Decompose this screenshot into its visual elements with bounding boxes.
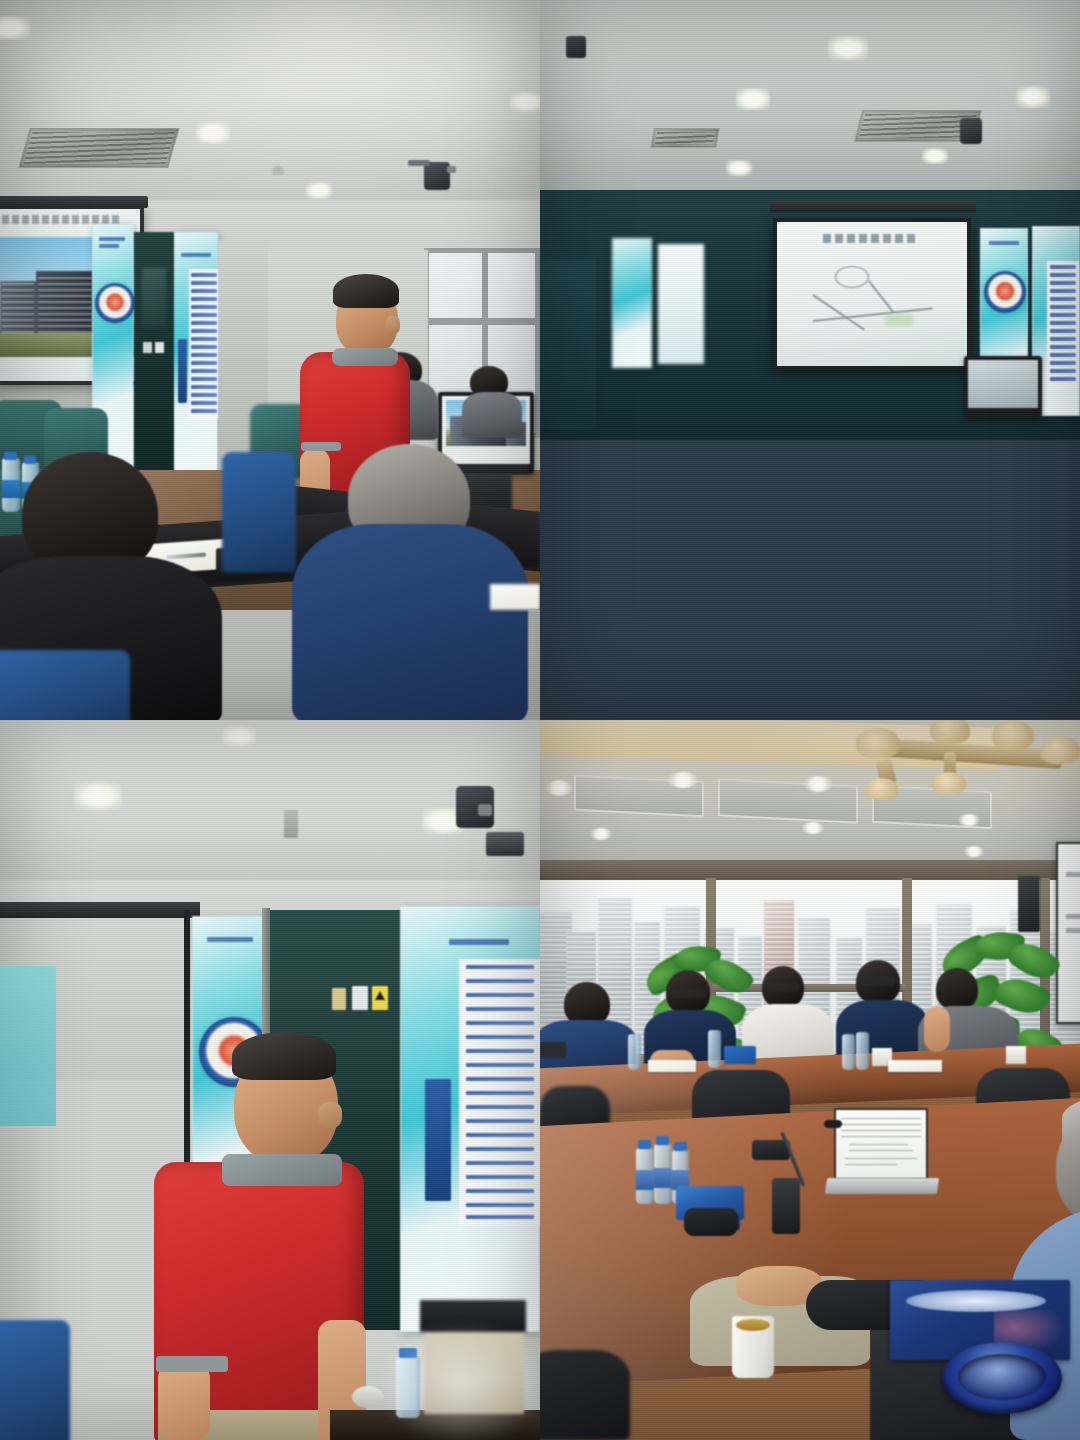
bottle-cap (656, 1136, 669, 1145)
presenter-face-detail (318, 1102, 342, 1128)
banner-heading-text (99, 244, 119, 248)
microphone-base (772, 1178, 800, 1234)
ceiling-shading (0, 0, 540, 215)
paper-cup (732, 1316, 774, 1378)
bottle-cap (399, 1348, 417, 1358)
presenter-collar (332, 348, 398, 366)
document (888, 1060, 942, 1072)
ceiling-light (510, 92, 540, 112)
chandelier-lamp (866, 778, 898, 800)
panel-bottom-left: 目管理 运用现代的管理技术，在 力和物资资源以达到预定 和参与者满意等目标的 5… (0, 720, 540, 1440)
banner-heading-text (989, 241, 1019, 245)
participant-body (462, 392, 522, 438)
slide-diagram-line (813, 294, 865, 330)
projector (960, 118, 982, 144)
bottle-cap (638, 1140, 651, 1149)
water-bottle (654, 1144, 672, 1204)
banner-schedule-table (459, 959, 540, 1225)
chandelier-lamp (932, 772, 966, 794)
ceiling-downlight (802, 822, 824, 834)
ceiling-downlight (546, 780, 572, 796)
participant-head (936, 968, 978, 1010)
water-bottle (628, 1034, 641, 1070)
projector-lens (447, 166, 456, 173)
banner-heading-text (181, 253, 211, 257)
projector-mount (408, 160, 430, 166)
presenter-collar (222, 1154, 342, 1186)
screen-roller (0, 196, 148, 208)
ceiling-light (0, 16, 30, 40)
water-bottle (842, 1034, 855, 1070)
air-vent (650, 128, 720, 148)
chandelier-lamp (1040, 736, 1080, 764)
rollup-banner (612, 238, 652, 368)
monitor-screen (968, 360, 1038, 408)
bottle-cap (4, 452, 17, 460)
podium-table (330, 1410, 540, 1440)
chair (0, 1320, 70, 1440)
wall-speaker (1018, 876, 1040, 932)
foreground-object (540, 1350, 630, 1440)
monitor (964, 356, 1042, 418)
slide-diagram-circle (835, 266, 869, 288)
sprinkler (284, 810, 298, 838)
wall-poster (658, 244, 704, 364)
ceiling-light (74, 782, 122, 810)
cup (1006, 1046, 1026, 1064)
window-header (540, 860, 1080, 882)
eyeglass-case (684, 1208, 738, 1236)
ceiling-light (922, 148, 948, 164)
banner-schedule-table (1047, 261, 1079, 389)
door-sign (143, 342, 152, 353)
banner-heading-text (99, 237, 125, 241)
presenter-sleeve-cuff (156, 1356, 228, 1372)
projection-screen (773, 218, 971, 370)
presenter-hair (232, 1032, 336, 1080)
rollup-banner (400, 906, 540, 1332)
water-bottle (396, 1356, 420, 1418)
presenter-arm (158, 1364, 210, 1440)
speaker (566, 36, 586, 58)
ashtray (942, 1342, 1062, 1414)
screen-roller (0, 902, 200, 918)
document-stack (424, 1330, 524, 1414)
laptop-document (836, 1110, 926, 1178)
chair (222, 452, 296, 572)
bottle-cap (674, 1142, 687, 1151)
photo-collage: 目管理 运用现代的管理技术，在 力和物资资源以达到预定 和参与者满意等目标的 5… (0, 0, 1080, 1440)
banner-edge (0, 966, 56, 1126)
document (490, 584, 540, 610)
water-bottle (856, 1032, 869, 1070)
panel-top-left (0, 0, 540, 720)
presenter-face-detail (386, 316, 400, 334)
chandelier-lamp (992, 720, 1034, 750)
laptop-screen (834, 1108, 928, 1180)
eyeglasses (764, 982, 800, 992)
door-sign (352, 986, 368, 1010)
laptop-base (825, 1178, 939, 1194)
warning-sign (372, 986, 388, 1010)
ceiling-downlight (804, 776, 832, 792)
projector-lens (478, 804, 492, 816)
water-bottle (708, 1030, 721, 1068)
ceiling-coffer (718, 778, 858, 823)
ceiling-downlight (590, 828, 612, 840)
screen-roller (770, 200, 976, 212)
monitor (420, 1300, 526, 1332)
ceiling-downlight (964, 846, 984, 857)
banner-logo-icon (984, 271, 1026, 313)
ceiling-downlight (958, 814, 980, 826)
cup (352, 1386, 384, 1408)
projector (424, 162, 450, 190)
tissue-box (724, 1046, 756, 1064)
foreground-body (292, 524, 528, 720)
ceiling-light (828, 36, 868, 60)
ceiling (540, 0, 1080, 200)
panel-bottom-right (540, 720, 1080, 1440)
air-vent (18, 128, 179, 168)
chandelier-lamp (856, 728, 900, 758)
participant-hand (924, 1006, 950, 1052)
slide-title-text (2, 215, 122, 224)
document (648, 1060, 696, 1072)
door-sign (155, 342, 164, 353)
water-bottle (636, 1148, 654, 1204)
microphone-head (824, 1120, 842, 1128)
slide-diagram-line (868, 280, 894, 312)
door-sign (332, 988, 346, 1010)
banner-schedule-table (189, 269, 219, 419)
phone (540, 1042, 566, 1058)
ceiling-light (306, 182, 332, 199)
presenter-sleeve-cuff (301, 442, 341, 451)
ceiling-light (736, 88, 770, 110)
rollup-banner (172, 232, 218, 472)
eyeglasses (858, 976, 896, 986)
banner-heading-text (449, 939, 509, 945)
ceiling-light (726, 160, 752, 176)
bottle-cap (24, 456, 36, 464)
ceiling-downlight (668, 772, 698, 788)
water-bottle (2, 458, 20, 512)
banner-logo-icon (95, 283, 135, 323)
slide-title-text (823, 234, 919, 243)
banner-sidebar-block (425, 1079, 451, 1201)
ceiling-light (1016, 86, 1050, 108)
door-glass (142, 268, 166, 328)
chandelier-lamp (930, 720, 970, 744)
wall-section (540, 260, 596, 430)
smoke-detector (272, 166, 284, 175)
chair (0, 650, 130, 720)
presenter-hair (333, 274, 399, 308)
banner-heading-text (207, 937, 253, 942)
eyeglasses (670, 988, 706, 998)
ceiling-light (196, 122, 230, 144)
slide-diagram-line (813, 307, 932, 321)
panel-top-right (540, 0, 1080, 720)
slide-diagram-block (885, 314, 913, 326)
projector-mount (486, 832, 524, 856)
ceiling-light (222, 726, 256, 746)
banner-sidebar-block (178, 339, 187, 403)
